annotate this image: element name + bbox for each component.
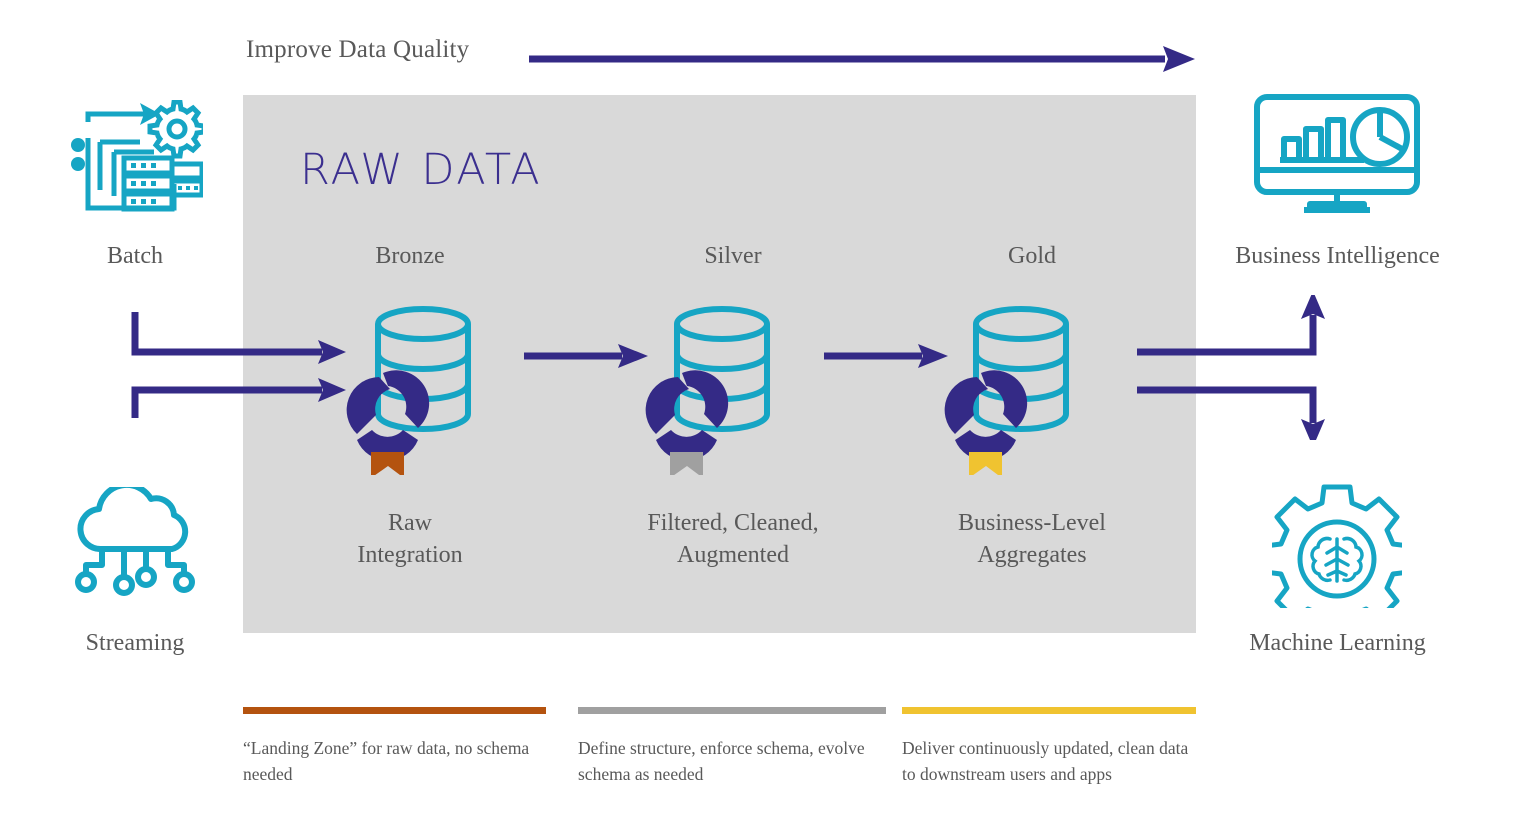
source-to-bronze-connectors — [100, 300, 360, 430]
silver-to-gold-arrow — [822, 340, 952, 372]
caption-text-silver: Define structure, enforce schema, evolve… — [578, 735, 878, 788]
tier-label-bronze: Bronze — [310, 243, 510, 270]
caption-rule-silver — [578, 707, 886, 714]
improve-data-quality-arrow — [527, 44, 1199, 74]
silver-ribbon — [670, 452, 703, 475]
dashboard-monitor-icon — [1252, 92, 1422, 222]
caption-text-bronze: “Landing Zone” for raw data, no schema n… — [243, 735, 543, 788]
brain-gear-icon — [1272, 483, 1402, 608]
medal-ring-icon — [646, 370, 729, 460]
cloud-streaming-icon — [68, 487, 203, 597]
gold-to-consumer-connectors — [1135, 295, 1420, 440]
bronze-ribbon — [371, 452, 404, 475]
batch-processing-icon — [68, 100, 203, 225]
tier-description-silver: Filtered, Cleaned,Augmented — [603, 508, 863, 571]
silver-tier-graphic — [637, 300, 787, 475]
gold-tier-graphic — [936, 300, 1086, 475]
tier-description-bronze: RawIntegration — [280, 508, 540, 571]
caption-rule-gold — [902, 707, 1196, 714]
bronze-tier-graphic — [338, 300, 488, 475]
tier-description-gold: Business-LevelAggregates — [902, 508, 1162, 571]
batch-label: Batch — [0, 243, 270, 270]
tier-label-silver: Silver — [633, 243, 833, 270]
caption-rule-bronze — [243, 707, 546, 714]
streaming-label: Streaming — [0, 630, 270, 657]
bronze-to-silver-arrow — [522, 340, 652, 372]
caption-text-gold: Deliver continuously updated, clean data… — [902, 735, 1202, 788]
gold-ribbon — [969, 452, 1002, 475]
business-intelligence-label: Business Intelligence — [1165, 243, 1510, 270]
tier-label-gold: Gold — [932, 243, 1132, 270]
medal-ring-icon — [945, 370, 1028, 460]
raw-data-title: RAW DATA — [300, 145, 542, 195]
medal-ring-icon — [347, 370, 430, 460]
machine-learning-label: Machine Learning — [1165, 630, 1510, 657]
medallion-architecture-diagram: Improve Data Quality RAW DATA — [0, 0, 1536, 825]
improve-data-quality-label: Improve Data Quality — [246, 36, 469, 64]
